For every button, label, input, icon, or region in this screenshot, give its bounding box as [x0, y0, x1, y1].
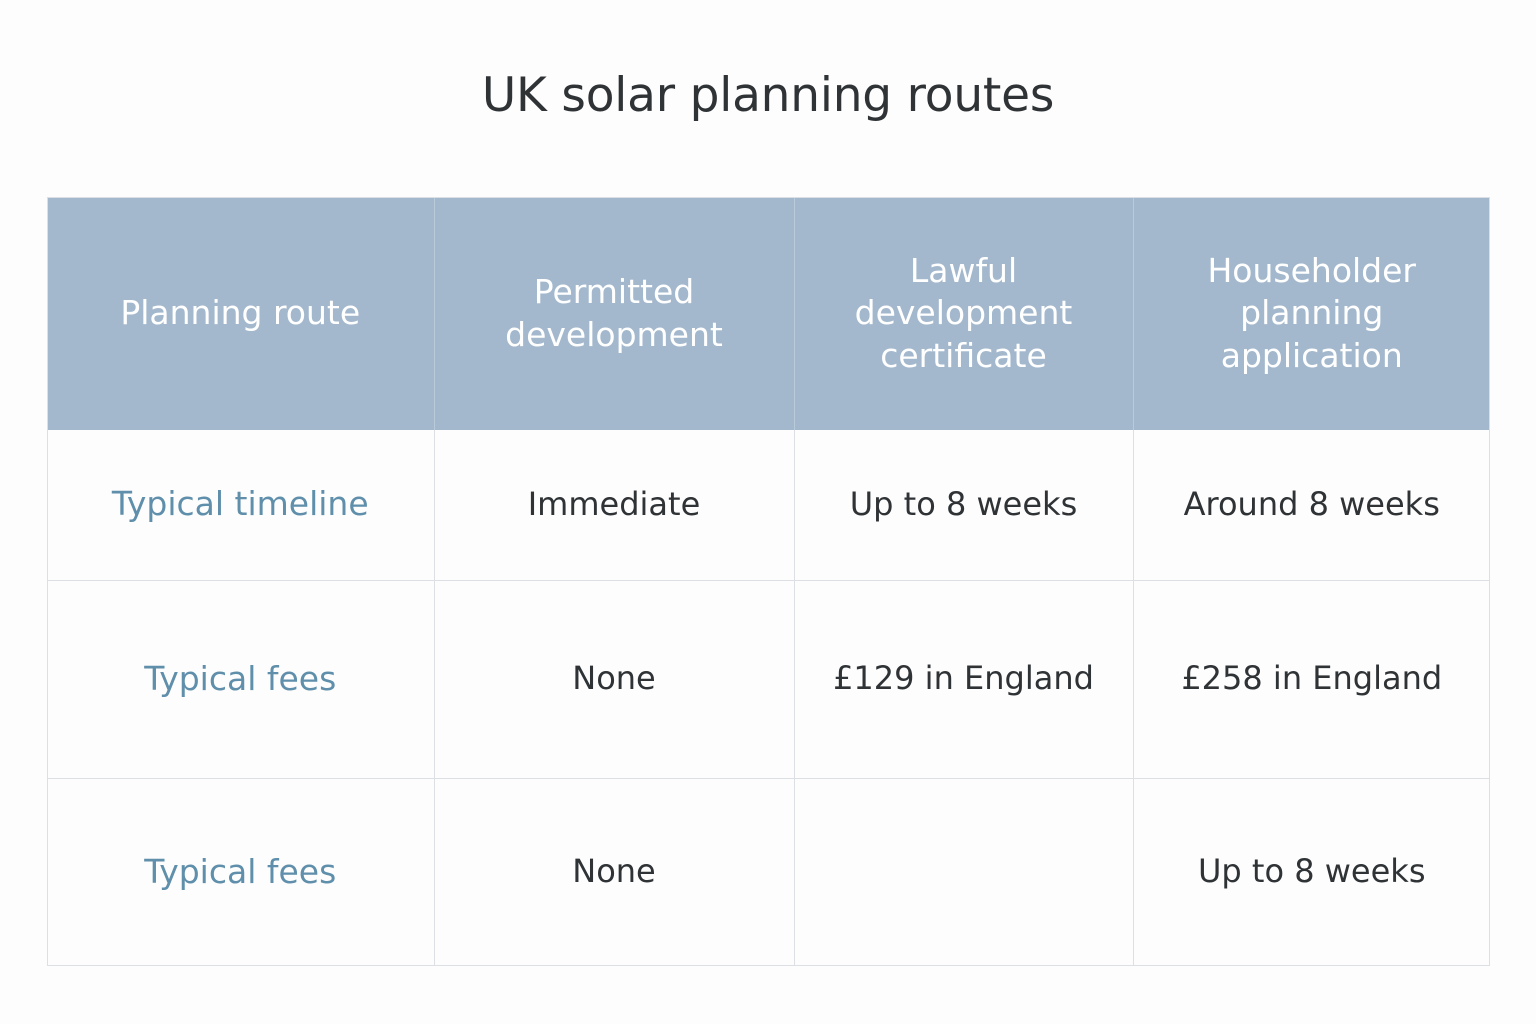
cell-fees2-lawful-development-certificate — [794, 778, 1133, 966]
cell-fees1-permitted-development: None — [434, 580, 794, 778]
table-row: Typical fees None Up to 8 weeks — [47, 778, 1490, 966]
column-header-lawful-development-certificate: Lawful development certificate — [794, 197, 1133, 430]
row-label-typical-timeline: Typical timeline — [47, 430, 434, 580]
row-label-typical-fees-2: Typical fees — [47, 778, 434, 966]
cell-timeline-householder-planning-application: Around 8 weeks — [1133, 430, 1490, 580]
cell-fees1-lawful-development-certificate: £129 in England — [794, 580, 1133, 778]
planning-routes-table-container: Planning route Permitted development Law… — [47, 197, 1490, 966]
cell-fees1-householder-planning-application: £258 in England — [1133, 580, 1490, 778]
cell-fees2-householder-planning-application: Up to 8 weeks — [1133, 778, 1490, 966]
page-title: UK solar planning routes — [0, 70, 1536, 122]
column-header-permitted-development: Permitted development — [434, 197, 794, 430]
column-header-householder-planning-application: Householder planning application — [1133, 197, 1490, 430]
cell-fees2-permitted-development: None — [434, 778, 794, 966]
planning-routes-table: Planning route Permitted development Law… — [47, 197, 1490, 966]
table-row: Typical timeline Immediate Up to 8 weeks… — [47, 430, 1490, 580]
cell-timeline-lawful-development-certificate: Up to 8 weeks — [794, 430, 1133, 580]
column-header-planning-route: Planning route — [47, 197, 434, 430]
table-header: Planning route Permitted development Law… — [47, 197, 1490, 430]
table-header-row: Planning route Permitted development Law… — [47, 197, 1490, 430]
cell-timeline-permitted-development: Immediate — [434, 430, 794, 580]
row-label-typical-fees-1: Typical fees — [47, 580, 434, 778]
table-row: Typical fees None £129 in England £258 i… — [47, 580, 1490, 778]
table-body: Typical timeline Immediate Up to 8 weeks… — [47, 430, 1490, 966]
